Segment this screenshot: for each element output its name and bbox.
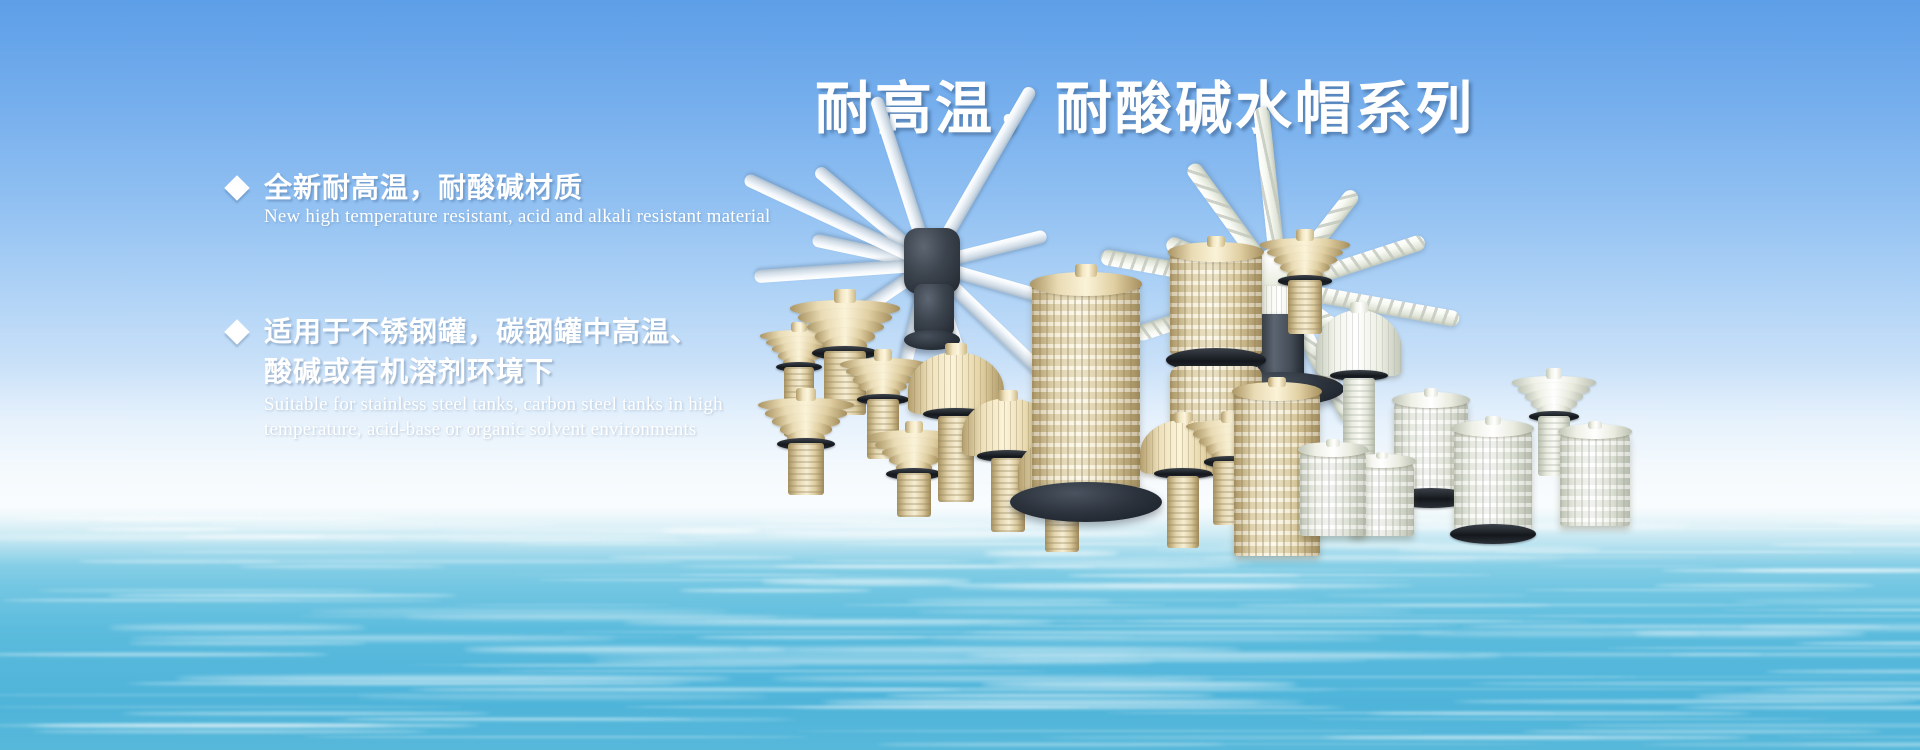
feature-2-en-line-1: Suitable for stainless steel tanks, carb… <box>264 392 723 417</box>
feature-2-cn-line-1: 适用于不锈钢罐，碳钢罐中高温、 <box>264 312 699 352</box>
feature-1-en-line-1: New high temperature resistant, acid and… <box>264 204 771 229</box>
product-image-cluster <box>700 130 1920 550</box>
diamond-bullet-icon <box>224 319 249 344</box>
product-banner: 耐高温，耐酸碱水帽系列 全新耐高温，耐酸碱材质 New high tempera… <box>0 0 1920 750</box>
feature-2-cn-line-2: 酸碱或有机溶剂环境下 <box>264 352 699 392</box>
feature-1-cn-line-1: 全新耐高温，耐酸碱材质 <box>264 168 583 208</box>
feature-bullet-1: 全新耐高温，耐酸碱材质 New high temperature resista… <box>228 168 771 229</box>
diamond-bullet-icon <box>224 175 249 200</box>
feature-2-en-line-2: temperature, acid-base or organic solven… <box>264 417 723 442</box>
feature-bullet-2: 适用于不锈钢罐，碳钢罐中高温、 酸碱或有机溶剂环境下 Suitable for … <box>228 312 723 442</box>
